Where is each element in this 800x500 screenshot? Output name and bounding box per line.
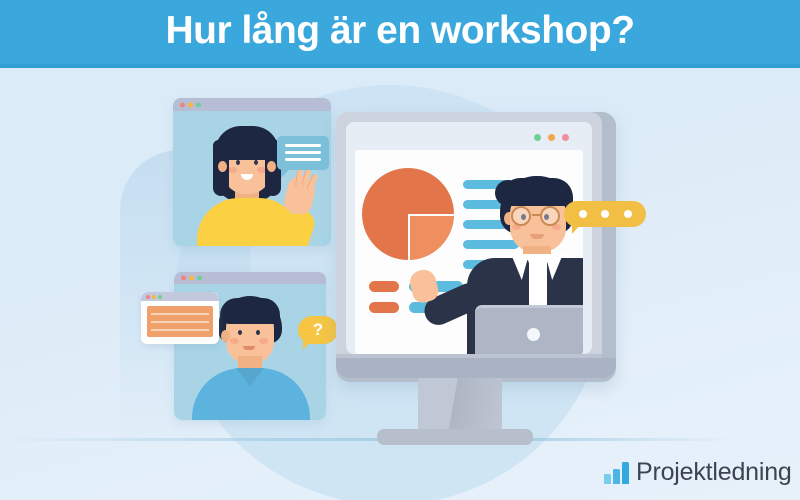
screen-dot-pink-icon[interactable] <box>562 134 569 141</box>
monitor-bezel <box>336 112 602 370</box>
bar-chart-icon <box>604 462 629 484</box>
screen-dot-orange-icon[interactable] <box>548 134 555 141</box>
man2-eye-right <box>256 330 260 335</box>
laptop-logo-icon <box>527 328 540 341</box>
window-minimize-dot-icon[interactable] <box>152 295 156 299</box>
man2-blush-right <box>259 338 268 344</box>
window-maximize-dot-icon[interactable] <box>197 276 202 281</box>
page-title: Hur lång är en workshop? <box>165 11 634 50</box>
pill-orange-2 <box>369 302 399 313</box>
presenter-fringe <box>501 178 573 206</box>
question-bubble: ? <box>298 316 338 344</box>
pill-orange-1 <box>369 281 399 292</box>
glasses-bridge-icon <box>532 214 540 216</box>
video-panel-woman[interactable] <box>173 98 331 246</box>
chat-bubble-line-3 <box>285 158 321 161</box>
document-card[interactable] <box>141 292 219 344</box>
window-close-dot-icon[interactable] <box>180 102 185 107</box>
glasses-lens-right-icon <box>540 206 560 226</box>
window-maximize-dot-icon[interactable] <box>158 295 162 299</box>
man2-eye-left <box>238 330 242 335</box>
presenter-mouth <box>530 234 544 239</box>
screen-dot-green-icon[interactable] <box>534 134 541 141</box>
man2-blush-left <box>230 338 239 344</box>
woman-eye-left <box>236 160 240 165</box>
document-line-2 <box>151 321 209 323</box>
monitor-stand-base <box>377 429 533 445</box>
man2-ear <box>221 330 230 342</box>
typing-indicator-bubble <box>564 201 646 227</box>
window-close-dot-icon[interactable] <box>146 295 150 299</box>
woman-mouth <box>241 174 253 180</box>
woman-ear-left <box>218 161 227 172</box>
typing-dot-3 <box>624 210 632 218</box>
typing-dot-1 <box>579 210 587 218</box>
man2-mouth <box>243 346 255 350</box>
window-maximize-dot-icon[interactable] <box>196 102 201 107</box>
woman-waving-hand <box>282 173 318 217</box>
document-card-titlebar <box>141 292 219 301</box>
monitor <box>336 112 616 382</box>
woman-ear-right <box>267 161 276 172</box>
header-banner: Hur lång är en workshop? <box>0 0 800 68</box>
pie-chart-slice <box>408 214 454 260</box>
chat-bubble-icon <box>277 136 329 170</box>
bar-chart-bar-3 <box>622 462 629 484</box>
monitor-stand-neck <box>418 378 502 433</box>
window-close-dot-icon[interactable] <box>181 276 186 281</box>
typing-dot-2 <box>601 210 609 218</box>
brand-logo[interactable]: Projektledning <box>604 458 792 487</box>
document-line-1 <box>151 313 209 315</box>
brand-name: Projektledning <box>636 458 792 487</box>
monitor-chin <box>336 358 616 378</box>
document-line-3 <box>151 329 209 331</box>
woman-eye-right <box>254 160 258 165</box>
window-minimize-dot-icon[interactable] <box>188 102 193 107</box>
window-minimize-dot-icon[interactable] <box>189 276 194 281</box>
text-line-4 <box>463 240 519 249</box>
woman-blush-left <box>228 167 237 173</box>
screenshot-canvas: Hur lång är en workshop? <box>0 0 800 500</box>
glasses-lens-left-icon <box>511 206 531 226</box>
chat-bubble-line-1 <box>285 144 321 147</box>
monitor-screen[interactable] <box>346 122 592 354</box>
bar-chart-bar-2 <box>613 469 620 484</box>
document-card-body <box>147 306 213 337</box>
screen-titlebar <box>346 122 592 150</box>
bar-chart-bar-1 <box>604 474 611 484</box>
window-titlebar <box>173 98 331 111</box>
window-titlebar <box>174 272 326 284</box>
woman-hair-front <box>215 126 279 160</box>
man2-fringe <box>220 298 280 324</box>
chat-bubble-line-2 <box>285 151 321 154</box>
screen-document <box>355 150 583 354</box>
